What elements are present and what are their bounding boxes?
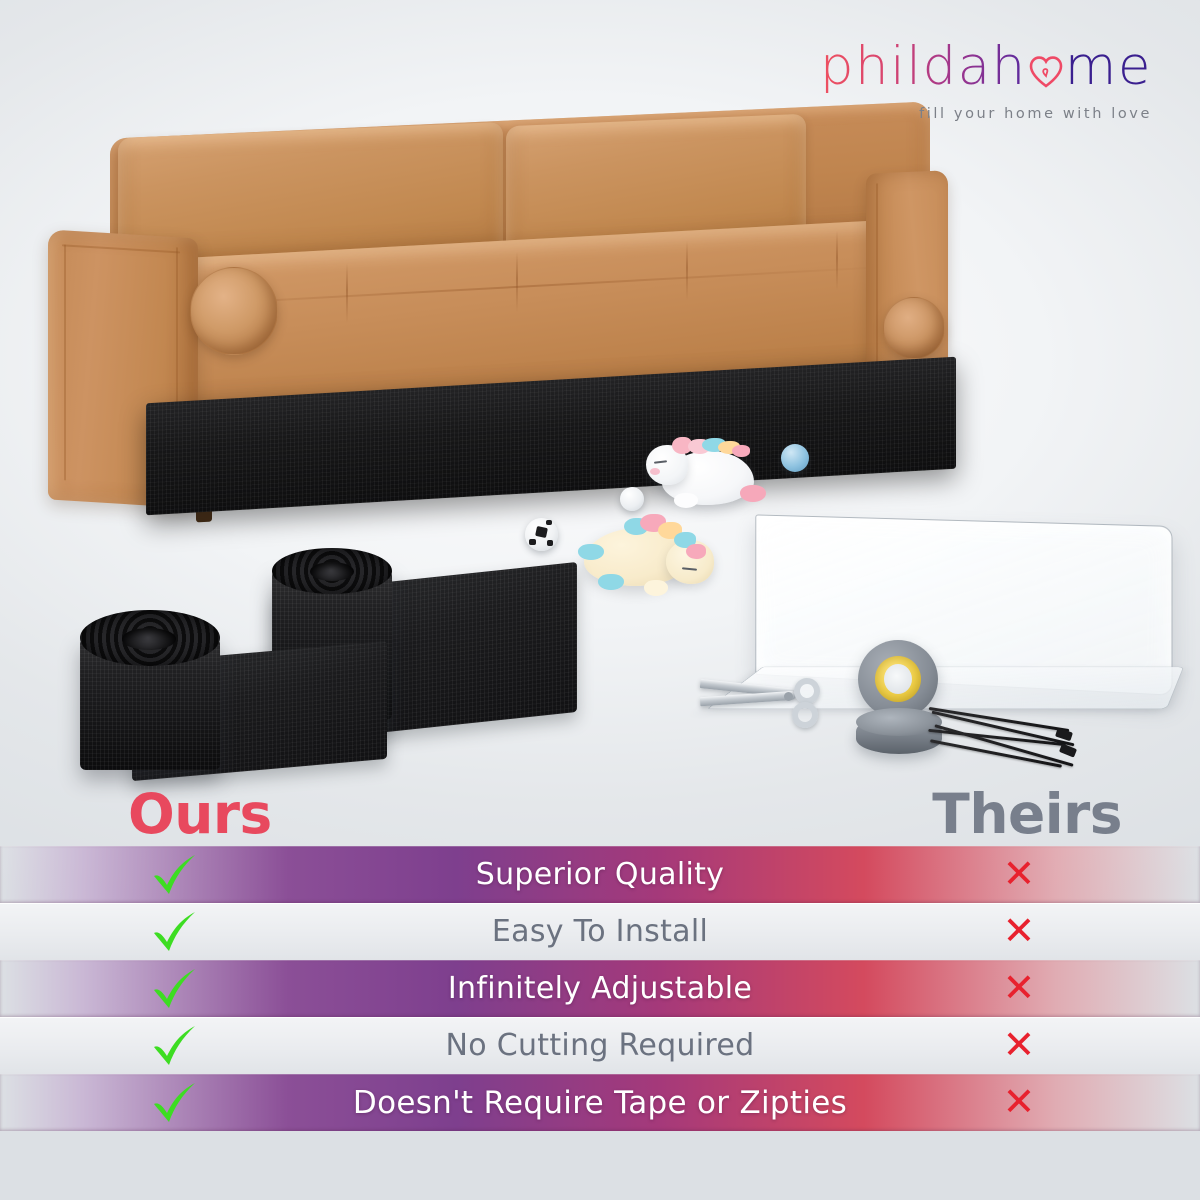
theirs-x-icon: ✕ bbox=[996, 910, 1042, 954]
table-row: No Cutting Required ✕ bbox=[0, 1017, 1200, 1074]
tape-roll-upright bbox=[858, 640, 938, 718]
table-row: Doesn't Require Tape or Zipties ✕ bbox=[0, 1074, 1200, 1131]
sofa-bolster-pillow-right bbox=[883, 297, 945, 359]
ours-column-label: Ours bbox=[128, 782, 272, 846]
unicorn-plush-white bbox=[644, 437, 772, 515]
sofa-illustration bbox=[38, 112, 938, 562]
table-row: Easy To Install ✕ bbox=[0, 903, 1200, 960]
brand-wordmark-part1: phildah bbox=[820, 40, 1027, 93]
our-product-strap-rolls bbox=[72, 540, 582, 790]
heart-icon bbox=[1028, 46, 1064, 86]
comparison-column-headers: Ours Theirs bbox=[0, 782, 1200, 844]
hero-product-scene bbox=[0, 0, 1200, 845]
comparison-table: Superior Quality ✕ Easy To Install ✕ Inf… bbox=[0, 846, 1200, 1136]
ball-white bbox=[620, 487, 644, 511]
their-product-kit bbox=[700, 512, 1190, 802]
theirs-x-icon: ✕ bbox=[996, 1081, 1042, 1125]
theirs-column-label: Theirs bbox=[932, 782, 1122, 846]
ball-blue bbox=[781, 444, 809, 472]
zip-ties-bundle bbox=[928, 712, 1088, 772]
theirs-x-icon: ✕ bbox=[996, 853, 1042, 897]
table-row: Infinitely Adjustable ✕ bbox=[0, 960, 1200, 1017]
sofa-bolster-pillow-left bbox=[190, 267, 278, 355]
theirs-x-icon: ✕ bbox=[996, 967, 1042, 1011]
brand-logo: phildah me fill your home with love bbox=[820, 40, 1152, 122]
infographic-canvas: phildah me fill your home with love Ours… bbox=[0, 0, 1200, 1200]
brand-tagline: fill your home with love bbox=[820, 106, 1152, 122]
brand-wordmark-part2: me bbox=[1065, 40, 1152, 93]
table-row: Superior Quality ✕ bbox=[0, 846, 1200, 903]
scissors-icon bbox=[700, 672, 850, 752]
theirs-x-icon: ✕ bbox=[996, 1024, 1042, 1068]
brand-wordmark: phildah me bbox=[820, 40, 1152, 93]
